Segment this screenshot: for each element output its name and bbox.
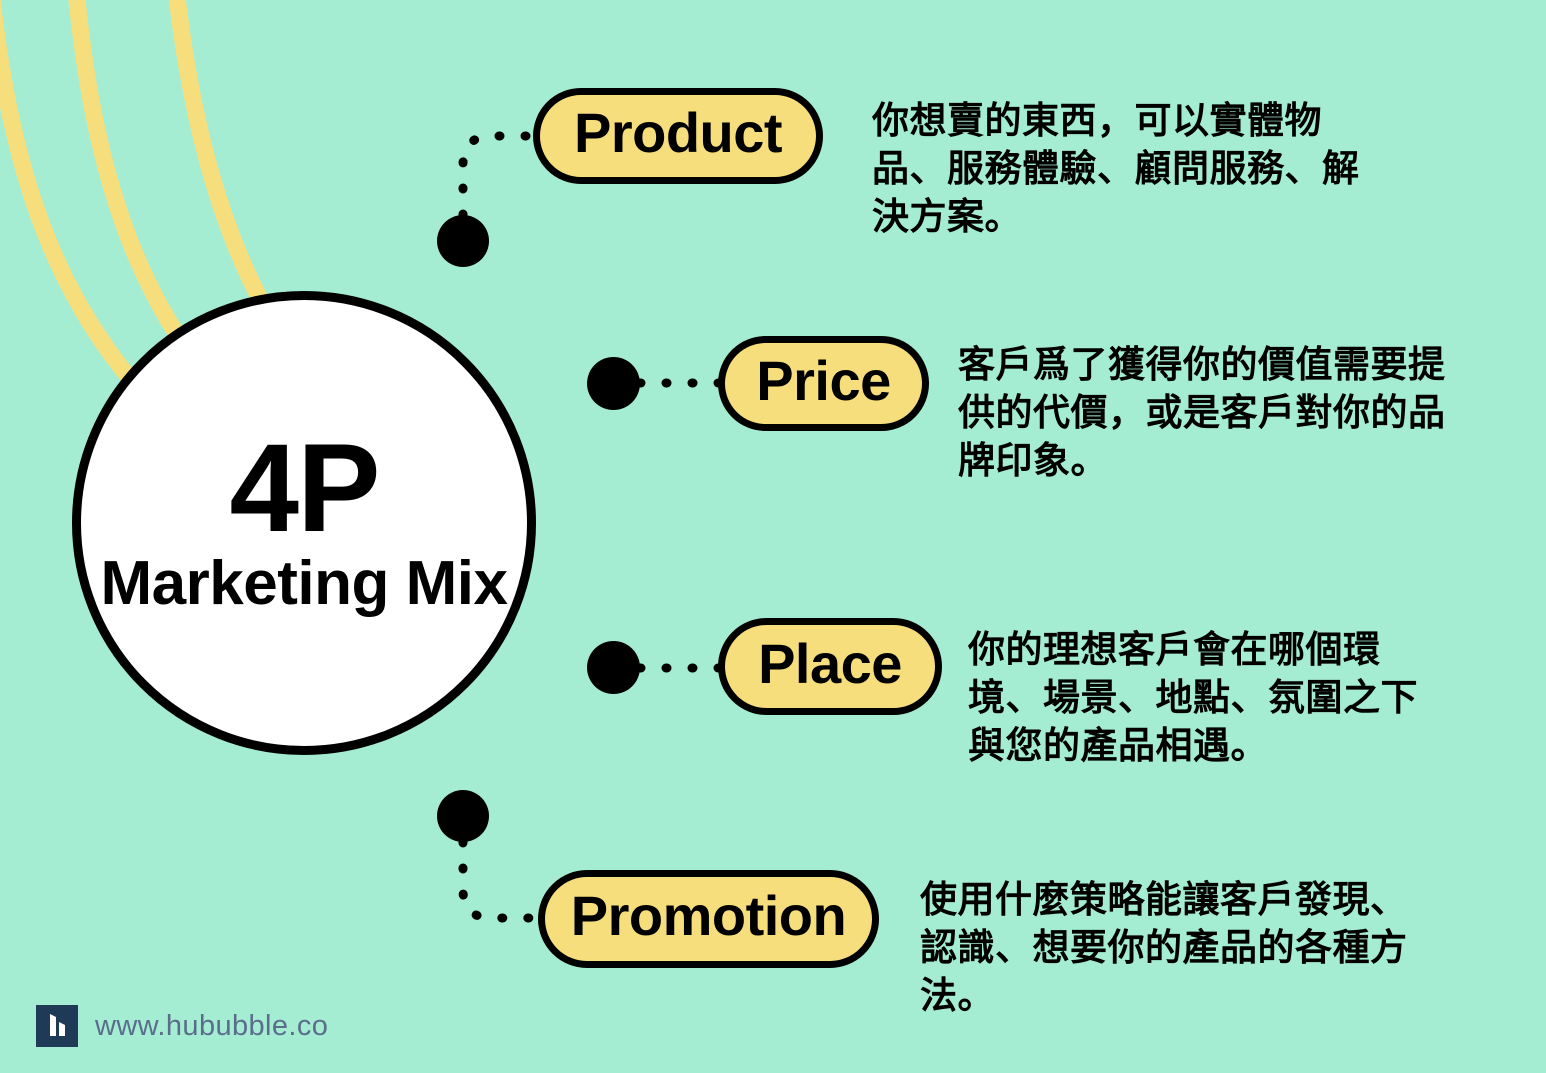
pill-label-price: Price — [756, 353, 891, 409]
description-promotion: 使用什麼策略能讓客戶發現、認識、想要你的產品的各種方法。 — [920, 876, 1432, 1020]
pill-label-promotion: Promotion — [571, 888, 846, 944]
hububble-logo-icon — [36, 1005, 78, 1047]
node-dot-promotion — [437, 790, 489, 842]
node-dot-product — [437, 215, 489, 267]
pill-promotion[interactable]: Promotion — [538, 870, 879, 968]
node-dot-price — [587, 357, 640, 410]
pill-place[interactable]: Place — [718, 618, 942, 715]
center-circle: 4P Marketing Mix — [72, 291, 536, 755]
footer-url[interactable]: www.hububble.co — [95, 1012, 328, 1041]
description-place: 你的理想客戶會在哪個環境、場景、地點、氛圍之下與您的產品相遇。 — [968, 626, 1446, 770]
infographic-canvas: 4P Marketing Mix Product 你想賣的東西，可以實體物品、服… — [0, 0, 1546, 1073]
pill-label-place: Place — [758, 636, 902, 692]
footer: www.hububble.co — [36, 1005, 328, 1047]
description-price: 客戶爲了獲得你的價值需要提供的代價，或是客戶對你的品牌印象。 — [958, 341, 1468, 485]
center-title: 4P — [230, 430, 379, 548]
center-subtitle: Marketing Mix — [101, 552, 508, 616]
node-dot-place — [587, 641, 640, 694]
description-product: 你想賣的東西，可以實體物品、服務體驗、顧問服務、解決方案。 — [872, 97, 1392, 241]
pill-price[interactable]: Price — [718, 336, 929, 431]
pill-product[interactable]: Product — [533, 88, 823, 184]
pill-label-product: Product — [574, 105, 782, 161]
